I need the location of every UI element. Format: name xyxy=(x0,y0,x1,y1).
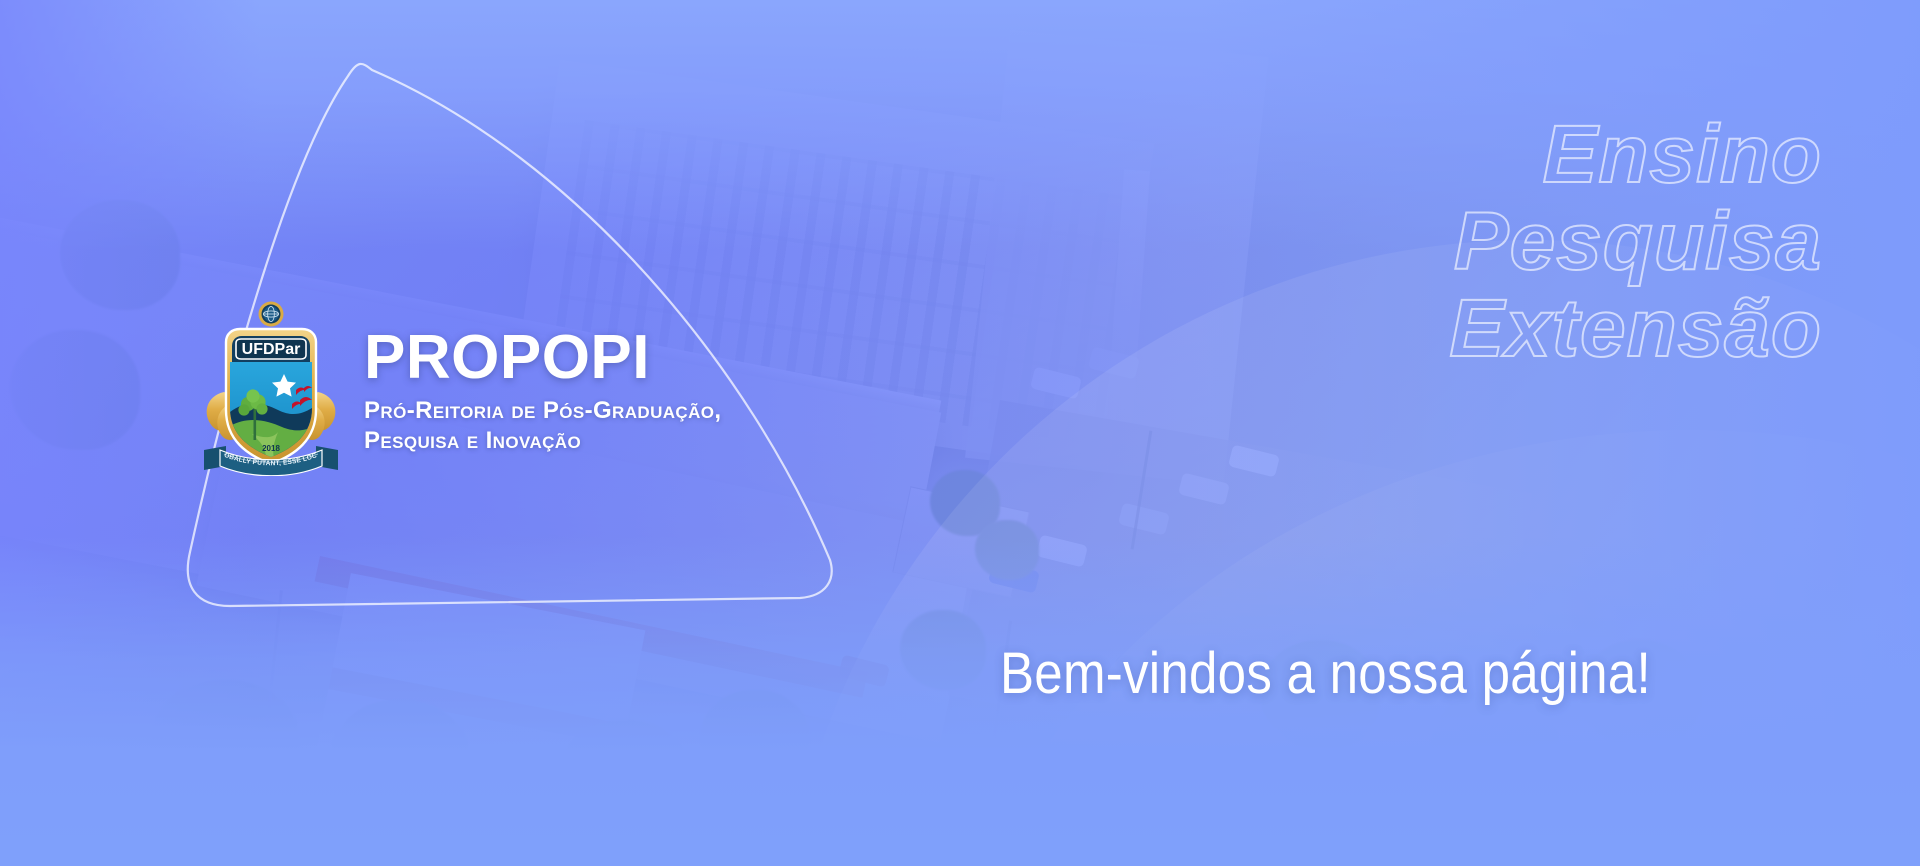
pillar-word-pesquisa: Pesquisa xyxy=(1454,199,1822,286)
propopi-hero-banner: UFDPar xyxy=(0,0,1920,866)
brand-subtitle: Pró-Reitoria de Pós-Graduação, Pesquisa … xyxy=(364,396,721,455)
brand-subtitle-line-2: Pesquisa e Inovação xyxy=(364,426,721,455)
page-title: PROPOPI xyxy=(364,327,721,389)
crest-year-label: 2018 xyxy=(262,444,280,453)
brand-subtitle-line-1: Pró-Reitoria de Pós-Graduação, xyxy=(364,396,721,425)
crest-banner-label: UFDPar xyxy=(242,341,301,358)
propopi-logo-lockup: UFDPar xyxy=(196,300,721,476)
brand-text-block: PROPOPI Pró-Reitoria de Pós-Graduação, P… xyxy=(364,321,721,455)
ufdpar-crest-icon: UFDPar xyxy=(196,300,346,476)
pillar-words-group: Ensino Pesquisa Extensão xyxy=(1449,112,1822,373)
welcome-message: Bem-vindos a nossa página! xyxy=(1000,640,1651,707)
pillar-word-ensino: Ensino xyxy=(1543,112,1822,199)
pillar-word-extensao: Extensão xyxy=(1449,286,1822,373)
